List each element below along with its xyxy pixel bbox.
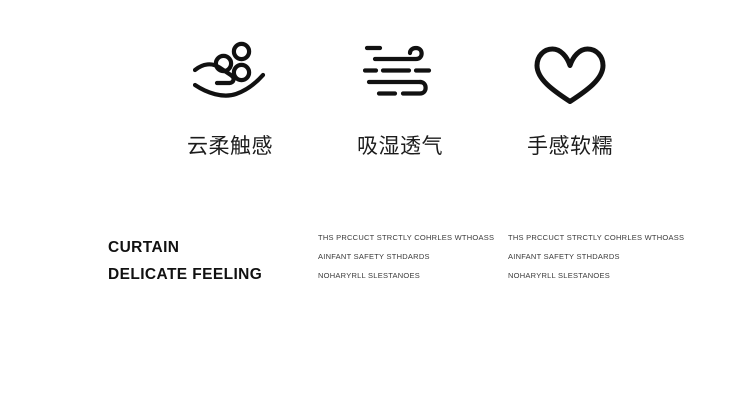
heart-outline-icon xyxy=(534,34,606,110)
headline-line-1: CURTAIN xyxy=(108,234,308,261)
spec-column-right: THS PRCCUCT STRCTLY COHRLES WTHOASS AINF… xyxy=(508,228,718,285)
feature-label-breathable: 吸湿透气 xyxy=(357,136,443,157)
spec-column-middle: THS PRCCUCT STRCTLY COHRLES WTHOASS AINF… xyxy=(318,228,528,285)
spec-line: THS PRCCUCT STRCTLY COHRLES WTHOASS xyxy=(318,228,528,247)
spec-line: AINFANT SAFETY STHDARDS xyxy=(318,247,528,266)
spec-line: AINFANT SAFETY STHDARDS xyxy=(508,247,718,266)
feature-row: 云柔触感 xyxy=(0,34,750,157)
feature-item-breathable: 吸湿透气 xyxy=(320,34,480,157)
headline-line-2: DELICATE FEELING xyxy=(108,261,308,288)
product-feature-banner: 云柔触感 xyxy=(0,0,750,420)
headline-block: CURTAIN DELICATE FEELING xyxy=(108,234,308,288)
hand-with-bubbles-icon xyxy=(193,34,267,110)
feature-label-soft-feel: 手感软糯 xyxy=(527,136,613,157)
spec-line: NOHARYRLL SLESTANOES xyxy=(318,266,528,285)
wind-breathable-icon xyxy=(363,34,437,110)
spec-line: NOHARYRLL SLESTANOES xyxy=(508,266,718,285)
spec-line: THS PRCCUCT STRCTLY COHRLES WTHOASS xyxy=(508,228,718,247)
feature-item-soft-feel: 手感软糯 xyxy=(490,34,650,157)
feature-item-cloud-soft-touch: 云柔触感 xyxy=(150,34,310,157)
feature-label-cloud-soft-touch: 云柔触感 xyxy=(187,136,273,157)
lower-text-band: CURTAIN DELICATE FEELING THS PRCCUCT STR… xyxy=(0,228,750,308)
